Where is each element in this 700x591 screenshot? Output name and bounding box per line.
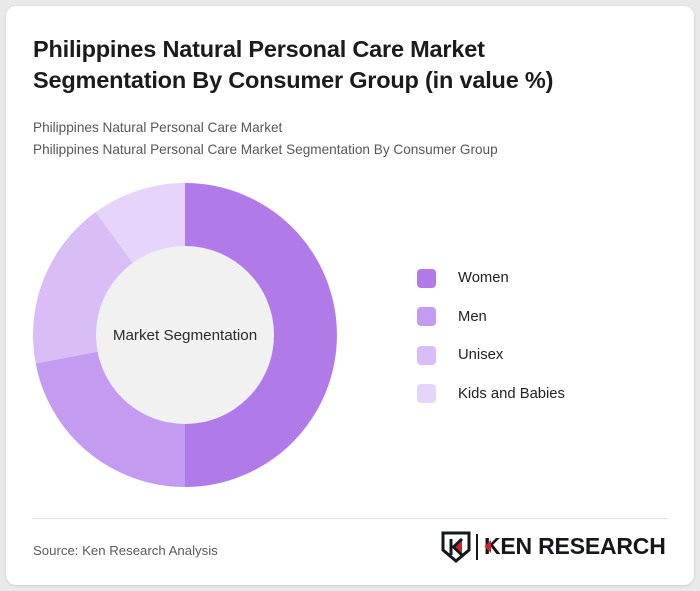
legend-swatch: [417, 346, 436, 365]
donut-hole: [96, 246, 274, 424]
source-note: Source: Ken Research Analysis: [33, 543, 218, 558]
chart-card: Philippines Natural Personal Care Market…: [6, 6, 694, 585]
ken-research-logo: KEN RESEARCH: [441, 530, 671, 564]
chart-area: Market Segmentation WomenMenUnisexKids a…: [6, 171, 694, 506]
subtitle-line-2: Philippines Natural Personal Care Market…: [33, 139, 643, 161]
donut-chart: Market Segmentation: [30, 180, 340, 490]
legend-item[interactable]: Women: [417, 259, 667, 298]
legend-item[interactable]: Unisex: [417, 336, 667, 375]
ken-research-wordmark: KEN RESEARCH: [484, 534, 670, 560]
wordmark-text: KEN RESEARCH: [484, 534, 666, 559]
logo-divider-bar: [476, 534, 479, 560]
subtitle-line-1: Philippines Natural Personal Care Market: [33, 117, 643, 139]
legend-label: Unisex: [458, 347, 503, 363]
subtitle-block: Philippines Natural Personal Care Market…: [33, 117, 643, 161]
legend-label: Men: [458, 309, 487, 325]
footer-divider: [33, 518, 667, 519]
legend-swatch: [417, 384, 436, 403]
legend-item[interactable]: Men: [417, 298, 667, 337]
legend-label: Women: [458, 270, 509, 286]
legend-label: Kids and Babies: [458, 386, 565, 402]
page-title: Philippines Natural Personal Care Market…: [33, 34, 633, 96]
legend-swatch: [417, 307, 436, 326]
chart-legend: WomenMenUnisexKids and Babies: [417, 259, 667, 413]
ken-shield-icon: [441, 531, 471, 563]
donut-svg: [30, 180, 340, 490]
legend-swatch: [417, 269, 436, 288]
legend-item[interactable]: Kids and Babies: [417, 375, 667, 414]
